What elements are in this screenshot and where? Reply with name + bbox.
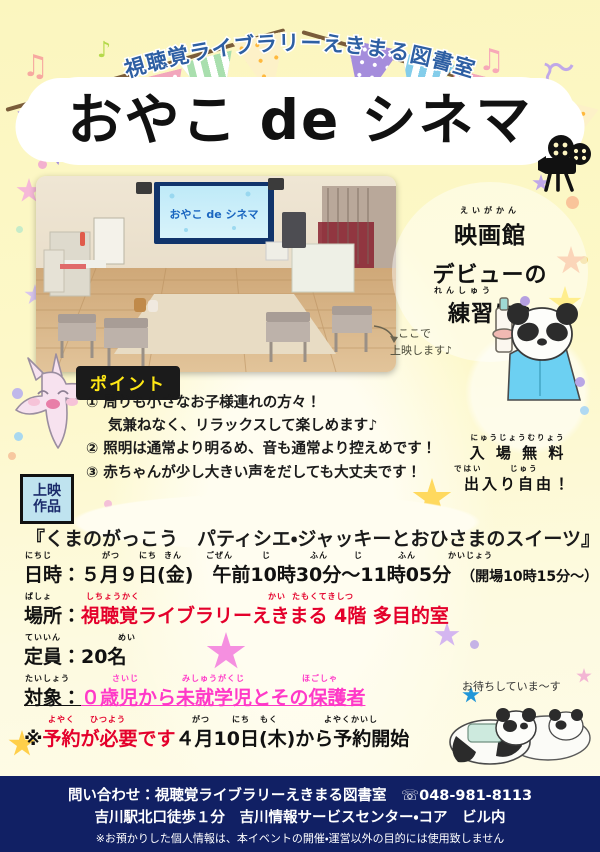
datetime-note: （開場10時15分〜）: [461, 569, 598, 585]
datetime-furigana: ふん: [398, 550, 416, 561]
footer-address: 吉川駅北口徒歩１分 吉川情報サービスセンター・コア ビル内: [0, 807, 600, 829]
datetime-furigana: にち: [139, 550, 157, 561]
place-label: 場所：: [24, 605, 81, 627]
footer: 問い合わせ：視聴覚ライブラリーえきまる図書室 ☏048-981-8113 吉川駅…: [0, 776, 600, 852]
place-furigana: かい: [268, 591, 286, 602]
detail-capacity: ていいん めい 定員：20名: [24, 642, 580, 669]
badge-line2: 作品: [33, 499, 61, 515]
here-note: ここで 上映します♪: [398, 326, 452, 359]
free-admission-block: にゅうじょうむりょう 入 場 無 料 ではい じゅう 出入り自由！: [448, 432, 588, 494]
point-text: 照明は通常より明るめ、音も通常より控えめです！: [103, 438, 436, 461]
blurb-line3-furigana: れんしゅう: [434, 285, 494, 296]
point-continuation: 気兼ねなく、リラックスして楽しめます♪: [86, 415, 466, 438]
audience-value: ０歳児から未就学児とその保護者: [81, 687, 365, 709]
place-furigana: しちょうかく: [86, 591, 140, 602]
datetime-furigana: きん: [164, 550, 182, 561]
datetime-label-furigana: にちじ: [25, 550, 52, 561]
free-admission-line2: ではい じゅう 出入り自由！: [448, 473, 588, 494]
capacity-value: 20名: [81, 646, 126, 668]
free-admission-line1-furigana: にゅうじょうむりょう: [448, 432, 588, 443]
decor-dot: [566, 196, 579, 209]
point-item: ② 照明は通常より明るめ、音も通常より控えめです！: [86, 438, 466, 461]
point-number: ③: [86, 462, 98, 485]
capacity-label: 定員：: [24, 646, 81, 668]
film-title: 『くまのがっこう パティシエ・ジャッキーとおひさまのスイーツ』: [26, 524, 576, 551]
blurb-line1: えいがかん 映画館: [454, 216, 526, 250]
place-value: 視聴覚ライブラリーえきまる 4階 多目的室: [81, 605, 449, 627]
badge-line1: 上映: [33, 483, 61, 499]
decor-dot: [16, 226, 23, 233]
free-admission-line2-furigana-b: じゅう: [510, 463, 539, 474]
poster-title-container: おやこ de シネマ: [44, 88, 557, 154]
datetime-note-furigana: かいじょう: [448, 550, 493, 561]
place-furigana: たもくてきしつ: [292, 591, 354, 602]
datetime-furigana: がつ: [102, 550, 120, 561]
detail-place: ばしょ しちょうかく かい たもくてきしつ 場所：視聴覚ライブラリーえきまる 4…: [24, 601, 580, 628]
datetime-value: ５月９日(金) 午前10時30分〜11時05分: [81, 564, 451, 586]
audience-furigana: みしゅうがくじ: [182, 673, 245, 684]
point-number: ①: [86, 392, 98, 415]
free-admission-line1: にゅうじょうむりょう 入 場 無 料: [448, 442, 588, 463]
datetime-furigana: じ: [354, 550, 363, 561]
reservation-furigana: ひつよう: [90, 714, 126, 725]
page-title: おやこ de シネマ: [68, 92, 533, 150]
datetime-label: 日時：: [24, 564, 81, 586]
point-text: 周りも小さなお子様連れの方々！: [103, 392, 321, 415]
reservation-furigana: よやく: [48, 714, 75, 725]
free-admission-line2-furigana-a: ではい: [454, 463, 483, 474]
panda-with-drink-character: [484, 296, 596, 410]
multipurpose-room-photo: おやこ de シネマ: [36, 176, 396, 372]
lying-pandas-character: [434, 694, 594, 772]
detail-datetime: にちじ がつ にち きん ごぜん じ ふん じ ふん かいじょう 日時：５月９日…: [24, 560, 580, 587]
audience-furigana: さいじ: [112, 673, 139, 684]
reservation-mark: ※: [24, 728, 42, 750]
arch-header-text: 視聴覚ライブラリーえきまる図書室: [121, 31, 478, 83]
point-number: ②: [86, 438, 98, 461]
blurb-line1-furigana: えいがかん: [454, 205, 526, 216]
reservation-furigana: もく: [260, 714, 278, 725]
arrow-icon: [372, 324, 402, 346]
reservation-black-text: ４月10日(木)から予約開始: [176, 728, 410, 750]
poster-root: ♫ ♪ ♫ 〜 〜 視聴覚ライブラリーえきまる図書室 おやこ de シネマ: [0, 0, 600, 852]
screen-caption: おやこ de シネマ: [170, 208, 259, 221]
audience-furigana: ほごしゃ: [302, 673, 338, 684]
reservation-furigana: にち: [232, 714, 250, 725]
place-label-furigana: ばしょ: [25, 591, 52, 602]
capacity-label-furigana: ていいん: [25, 632, 61, 643]
film-projector-icon: [528, 132, 594, 194]
capacity-furigana: めい: [118, 632, 136, 643]
footer-privacy: ※お預かりした個人情報は、本イベントの開催・運営以外の目的には使用致しません: [0, 830, 600, 849]
audience-label: 対象：: [24, 687, 81, 709]
datetime-furigana: ごぜん: [206, 550, 233, 561]
datetime-furigana: じ: [262, 550, 271, 561]
arch-header: 視聴覚ライブラリーえきまる図書室: [0, 24, 600, 88]
audience-label-furigana: たいしょう: [25, 673, 70, 684]
footer-contact: 問い合わせ：視聴覚ライブラリーえきまる図書室 ☏048-981-8113: [0, 785, 600, 807]
reservation-furigana: がつ: [192, 714, 210, 725]
screening-work-badge: 上映 作品: [20, 474, 74, 524]
points-list: ① 周りも小さなお子様連れの方々！ 気兼ねなく、リラックスして楽しめます♪ ② …: [86, 392, 466, 485]
point-text: 赤ちゃんが少し大きい声をだしても大丈夫です！: [103, 462, 421, 485]
decor-dot: [38, 160, 47, 169]
point-item: ③ 赤ちゃんが少し大きい声をだしても大丈夫です！: [86, 462, 466, 485]
point-item: ① 周りも小さなお子様連れの方々！: [86, 392, 466, 415]
waiting-note: お待ちしていま〜す: [462, 678, 561, 694]
here-note-line1: ここで: [398, 326, 452, 343]
datetime-furigana: ふん: [310, 550, 328, 561]
reservation-red-text: 予約が必要です: [42, 728, 175, 750]
reservation-furigana: よやくかいし: [324, 714, 378, 725]
